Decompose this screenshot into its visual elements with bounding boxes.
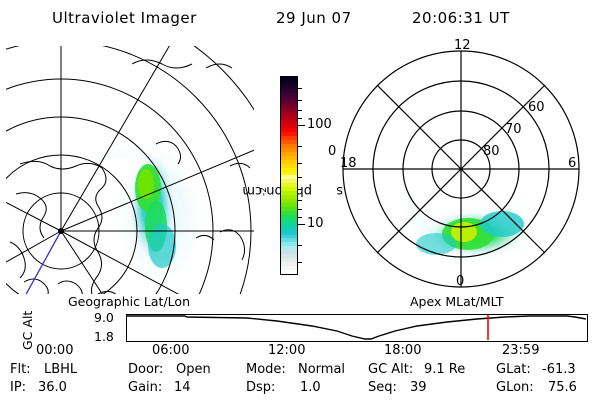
colorbar-tick-minor [298,189,302,190]
status-label-seq: Seq: [368,380,397,395]
status-value-glat: -61.3 [542,362,576,377]
gc-alt-tick-max: 9.0 [94,310,114,325]
mlt-label-0: 0 [456,274,464,289]
mlt-label-12: 12 [454,38,471,53]
mlat-label-80: 80 [483,144,500,159]
strip-caption-geographic: Geographic Lat/Lon [68,294,190,309]
status-label-gcalt: GC Alt: [368,362,413,377]
colorbar-tick-minor [298,100,302,101]
dial-edge-label-0: 0 [328,144,336,159]
status-value-door: Open [176,362,211,377]
apex-mlat-mlt-dial: 12 18 6 0 60 70 80 [336,44,586,294]
status-value-flt: LBHL [44,362,77,377]
gc-alt-trace-canvas [127,315,586,340]
status-label-dsp: Dsp: [246,380,275,395]
colorbar-tick-minor [298,118,302,119]
observation-time: 20:06:31 UT [412,9,510,27]
colorbar-tick-minor [298,146,302,147]
time-tick-1200: 12:00 [268,343,305,358]
status-label-flt: Flt: [10,362,31,377]
strip-caption-apex: Apex MLat/MLT [410,294,504,309]
colorbar-gradient [280,76,298,275]
header-bar: Ultraviolet Imager 29 Jun 07 20:06:31 UT [0,6,600,32]
instrument-title: Ultraviolet Imager [52,9,197,27]
status-footer: Flt: LBHL Door: Open Mode: Normal GC Alt… [0,362,600,400]
colorbar-tick-minor [298,88,302,89]
status-value-seq: 39 [410,380,427,395]
time-tick-0000: 00:00 [36,343,73,358]
colorbar-tick-minor [298,262,302,263]
status-value-glon: 75.6 [548,380,577,395]
observation-date: 29 Jun 07 [276,9,352,27]
status-label-door: Door: [128,362,163,377]
colorbar-tick-axis: 100 10 [298,76,328,275]
status-label-mode: Mode: [246,362,286,377]
status-label-glat: GLat: [496,362,531,377]
colorbar-tick-minor [298,177,302,178]
colorbar-segment-49 [281,270,297,274]
colorbar-axis-title: photon cm-2s-1 [246,128,262,268]
time-tick-1800: 18:00 [384,343,421,358]
colorbar [280,76,298,275]
pole-marker [58,228,64,234]
time-axis-ticks: 00:00 06:00 12:00 18:00 23:59 [0,343,600,361]
geographic-polar-map [6,46,254,294]
status-value-ip: 36.0 [38,380,67,395]
colorbar-tick-major-100 [298,125,305,126]
time-tick-0600: 06:00 [152,343,189,358]
colorbar-tick-minor [298,110,302,111]
geographic-map-canvas [6,46,254,294]
status-label-glon: GLon: [496,380,534,395]
spacecraft-track-line [24,231,61,294]
colorbar-tick-minor [298,217,302,218]
time-tick-2359: 23:59 [502,343,539,358]
gc-alt-trace [127,316,586,339]
colorbar-label-100: 100 [307,118,332,131]
mlt-label-18: 18 [340,156,357,171]
status-value-dsp: 1.0 [300,380,321,395]
status-value-mode: Normal [298,362,345,377]
colorbar-tick-major-10 [298,224,305,225]
colorbar-label-10: 10 [307,217,324,230]
mlat-label-60: 60 [528,100,545,115]
status-label-ip: IP: [10,380,26,395]
apex-dial-canvas [336,44,586,294]
mlt-spokes [343,51,579,287]
status-value-gain: 14 [174,380,191,395]
mlt-label-6: 6 [568,156,576,171]
gc-alt-plot-area [126,314,588,342]
gc-alt-tick-min: 1.8 [94,329,114,344]
orbit-altitude-strip: Geographic Lat/Lon Apex MLat/MLT GC Alt … [0,296,600,358]
colorbar-tick-minor [298,163,302,164]
status-value-gcalt: 9.1 Re [424,362,465,377]
mlat-label-70: 70 [505,122,522,137]
colorbar-tick-minor [298,209,302,210]
colorbar-tick-minor [298,200,302,201]
colorbar-tick-minor [298,245,302,246]
status-label-gain: Gain: [128,380,162,395]
